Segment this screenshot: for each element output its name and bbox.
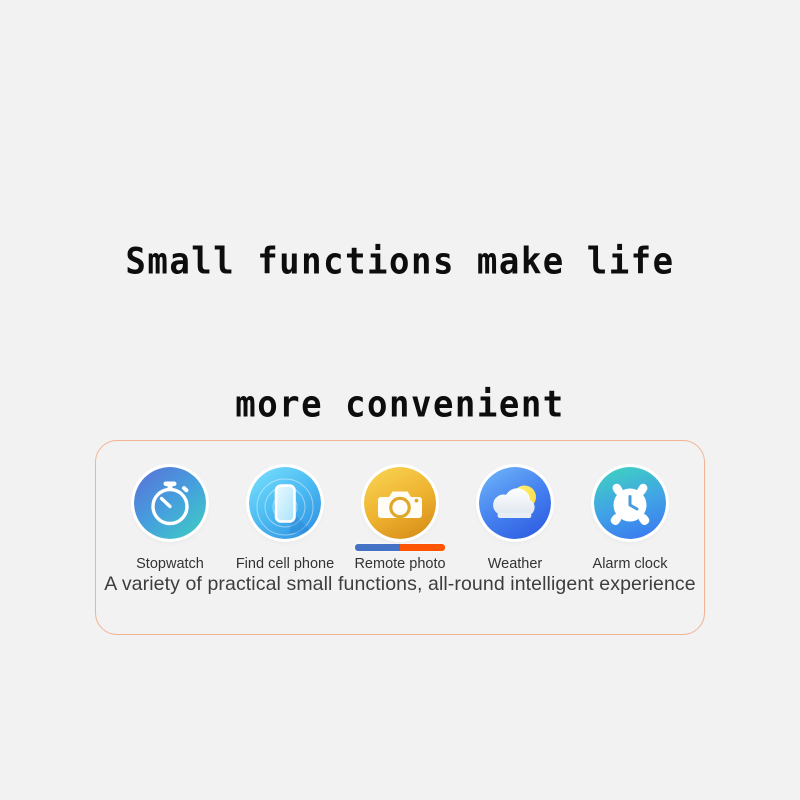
feature-label: Find cell phone — [236, 556, 334, 572]
page-title-line-1: Small functions make life — [125, 238, 674, 286]
feature-label: Stopwatch — [136, 556, 204, 572]
feature-item-find-cell-phone[interactable]: Find cell phone — [249, 467, 321, 572]
feature-item-alarm-clock[interactable]: Alarm clock — [594, 467, 666, 572]
camera-icon[interactable] — [364, 467, 436, 539]
feature-label: Alarm clock — [593, 556, 668, 572]
stopwatch-icon[interactable] — [134, 467, 206, 539]
feature-label: Remote photo — [354, 556, 445, 572]
weather-cloud-sun-icon[interactable] — [479, 467, 551, 539]
feature-item-weather[interactable]: Weather — [479, 467, 551, 572]
feature-card: Stopwatch — [95, 440, 705, 635]
page-title-line-2: more convenient — [125, 382, 674, 430]
feature-label: Weather — [488, 556, 543, 572]
feature-item-remote-photo[interactable]: Remote photo — [364, 467, 436, 572]
feature-item-stopwatch[interactable]: Stopwatch — [134, 467, 206, 572]
alarm-clock-icon[interactable] — [594, 467, 666, 539]
feature-list: Stopwatch — [96, 467, 704, 572]
promo-page: Small functions make life more convenien… — [0, 0, 800, 800]
find-phone-icon[interactable] — [249, 467, 321, 539]
